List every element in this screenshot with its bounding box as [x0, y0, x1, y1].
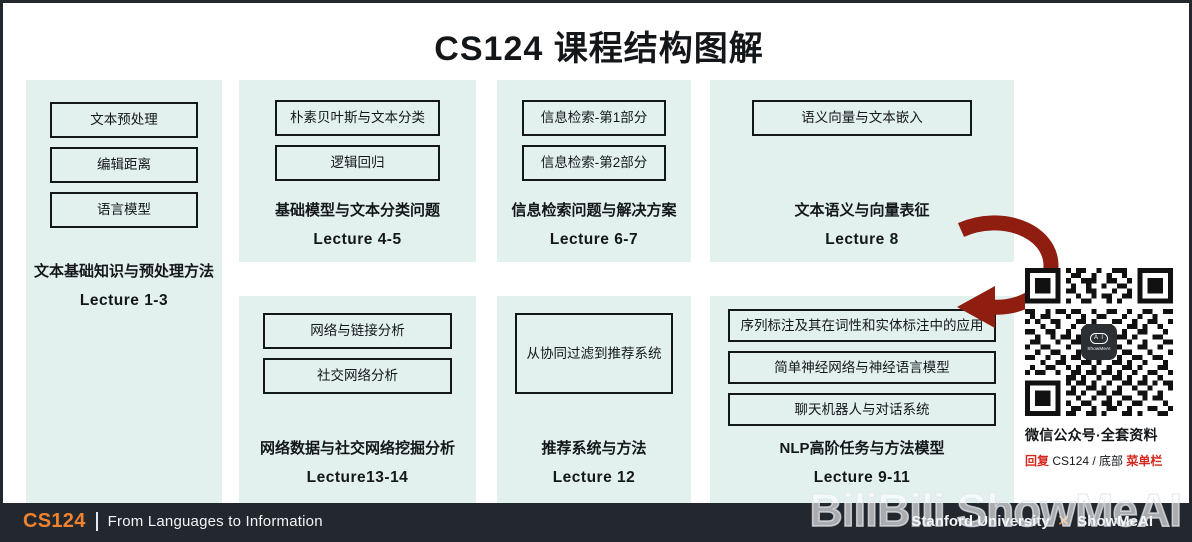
slide-canvas: CS124 课程结构图解 文本预处理 编辑距离 语言模型 文本基础知识与预处理方…	[0, 0, 1192, 542]
qr-subtitle: 回复 CS124 / 底部 菜单栏	[1025, 452, 1177, 469]
topic-chip[interactable]: 从协同过滤到推荐系统	[515, 313, 673, 394]
qr-title: 微信公众号·全套资料	[1025, 425, 1177, 445]
topic-chip[interactable]: 网络与链接分析	[263, 313, 452, 349]
footer-brand: CS124 From Languages to Information	[23, 510, 323, 533]
panel-lecture-label: Lecture 4-5	[239, 231, 476, 249]
qr-sub-prefix: 回复	[1025, 454, 1049, 468]
chip-list: 文本预处理 编辑距离 语言模型	[26, 80, 222, 228]
topic-chip[interactable]: 朴素贝叶斯与文本分类	[275, 100, 440, 136]
topic-chip[interactable]: 语义向量与文本嵌入	[752, 100, 972, 136]
topic-chip[interactable]: 社交网络分析	[263, 358, 452, 394]
topic-panel-basic-models: 朴素贝叶斯与文本分类 逻辑回归 基础模型与文本分类问题 Lecture 4-5	[239, 80, 476, 262]
cross-icon: ✕	[1057, 511, 1070, 531]
footer-bar: CS124 From Languages to Information Stan…	[3, 503, 1189, 539]
qr-sub-suffix: 菜单栏	[1126, 454, 1162, 468]
qr-promo-block: A I ShowMeAI 微信公众号·全套资料 回复 CS124 / 底部 菜单…	[1025, 268, 1177, 469]
panel-caption-title: 信息检索问题与解决方案	[497, 199, 691, 220]
topic-chip[interactable]: 语言模型	[50, 192, 198, 228]
panel-caption: 网络数据与社交网络挖掘分析 Lecture13-14	[239, 437, 476, 487]
chip-list: 从协同过滤到推荐系统	[497, 296, 691, 394]
panel-lecture-label: Lecture 9-11	[710, 469, 1014, 487]
course-code: CS124	[23, 510, 86, 533]
topic-chip[interactable]: 文本预处理	[50, 102, 198, 138]
panel-caption: NLP高阶任务与方法模型 Lecture 9-11	[710, 437, 1014, 487]
qr-sub-code: CS124 / 底部	[1052, 454, 1123, 468]
qr-logo-text: ShowMeAI	[1087, 346, 1110, 351]
footer-divider	[96, 512, 98, 531]
showmeai-logo-icon: A I ShowMeAI	[1081, 324, 1117, 360]
panel-caption-title: NLP高阶任务与方法模型	[710, 437, 1014, 458]
topic-chip[interactable]: 逻辑回归	[275, 145, 440, 181]
panel-caption-title: 文本基础知识与预处理方法	[26, 260, 222, 281]
topic-chip[interactable]: 编辑距离	[50, 147, 198, 183]
course-subtitle: From Languages to Information	[108, 513, 323, 530]
panel-lecture-label: Lecture13-14	[239, 469, 476, 487]
topic-panel-recommender: 从协同过滤到推荐系统 推荐系统与方法 Lecture 12	[497, 296, 691, 504]
panel-lecture-label: Lecture 6-7	[497, 231, 691, 249]
topic-chip[interactable]: 信息检索-第2部分	[522, 145, 666, 181]
chip-list: 网络与链接分析 社交网络分析	[239, 296, 476, 394]
chip-list: 信息检索-第1部分 信息检索-第2部分	[497, 80, 691, 181]
panel-caption: 文本基础知识与预处理方法 Lecture 1-3	[26, 260, 222, 310]
panel-caption-title: 网络数据与社交网络挖掘分析	[239, 437, 476, 458]
panel-caption: 基础模型与文本分类问题 Lecture 4-5	[239, 199, 476, 249]
qr-logo-badge: A I	[1090, 333, 1108, 344]
topic-chip[interactable]: 聊天机器人与对话系统	[728, 393, 996, 426]
qr-code-image[interactable]: A I ShowMeAI	[1025, 268, 1173, 416]
partner-left-label: Stanford University	[911, 513, 1049, 530]
panel-caption: 信息检索问题与解决方案 Lecture 6-7	[497, 199, 691, 249]
topic-chip[interactable]: 简单神经网络与神经语言模型	[728, 351, 996, 384]
panel-lecture-label: Lecture 1-3	[26, 292, 222, 310]
chip-list: 语义向量与文本嵌入	[710, 80, 1014, 136]
panel-caption-title: 基础模型与文本分类问题	[239, 199, 476, 220]
partner-right-label: ShowMeAI	[1077, 513, 1153, 530]
panel-lecture-label: Lecture 12	[497, 469, 691, 487]
page-title: CS124 课程结构图解	[3, 21, 1192, 70]
topic-chip[interactable]: 信息检索-第1部分	[522, 100, 666, 136]
panel-caption-title: 推荐系统与方法	[497, 437, 691, 458]
panel-caption: 推荐系统与方法 Lecture 12	[497, 437, 691, 487]
footer-partners: Stanford University ✕ ShowMeAI	[911, 511, 1153, 531]
topic-panel-network-analysis: 网络与链接分析 社交网络分析 网络数据与社交网络挖掘分析 Lecture13-1…	[239, 296, 476, 504]
topic-panel-text-basics: 文本预处理 编辑距离 语言模型 文本基础知识与预处理方法 Lecture 1-3	[26, 80, 222, 504]
topic-panel-information-retrieval: 信息检索-第1部分 信息检索-第2部分 信息检索问题与解决方案 Lecture …	[497, 80, 691, 262]
chip-list: 朴素贝叶斯与文本分类 逻辑回归	[239, 80, 476, 181]
